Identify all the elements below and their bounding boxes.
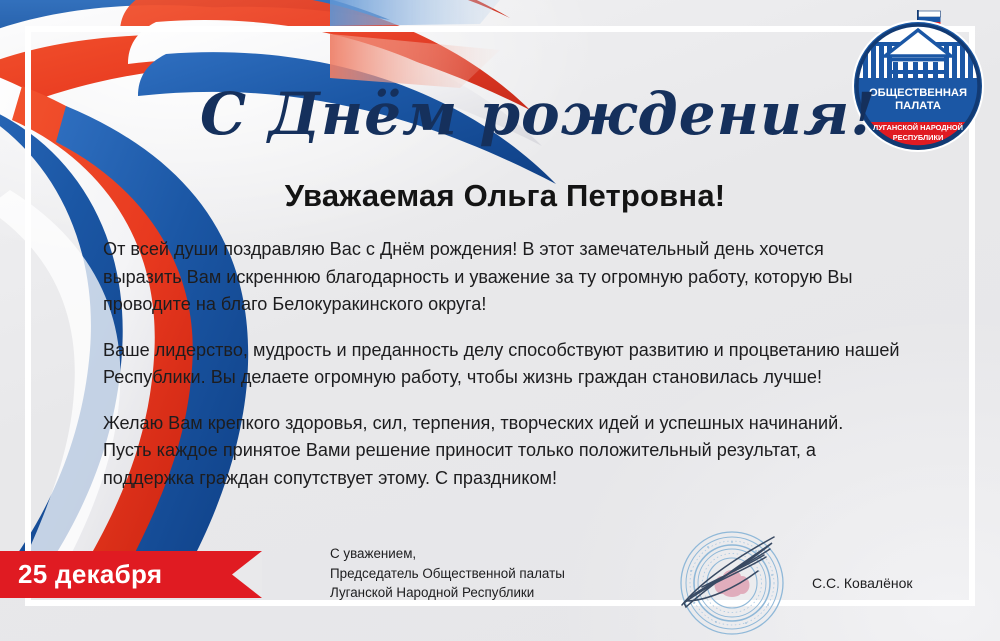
letter-paragraph: От всей души поздравляю Вас с Днём рожде… [103,236,903,319]
official-round-stamp-icon [676,527,788,639]
letter-paragraph: Желаю Вам крепкого здоровья, сил, терпен… [103,410,903,493]
signature-title-line-2: Луганской Народной Республики [330,583,565,603]
letter-paragraph: Ваше лидерство, мудрость и преданность д… [103,337,903,392]
salutation-heading: Уважаемая Ольга Петровна! [110,178,900,214]
signature-closing: С уважением, [330,544,565,564]
emblem-line-2: ПАЛАТА [895,100,941,112]
signatory-name: С.С. Ковалёнок [812,575,913,591]
signature-title-line-1: Председатель Общественной палаты [330,564,565,584]
date-banner-label: 25 декабря [18,559,162,589]
letter-body: От всей души поздравляю Вас с Днём рожде… [103,236,903,492]
date-banner: 25 декабря [0,551,262,598]
greeting-card: ОБЩЕСТВЕННАЯ ПАЛАТА ЛУГАНСКОЙ НАРОДНОЙ Р… [0,0,1000,641]
emblem-line-3: ЛУГАНСКОЙ НАРОДНОЙ [873,123,963,132]
page-title: С Днём рождения! [200,84,840,145]
emblem-line-1: ОБЩЕСТВЕННАЯ [869,87,967,99]
signature-block: С уважением, Председатель Общественной п… [330,544,565,603]
emblem-line-4: РЕСПУБЛИКИ [893,133,944,142]
banner-notch [232,551,262,598]
